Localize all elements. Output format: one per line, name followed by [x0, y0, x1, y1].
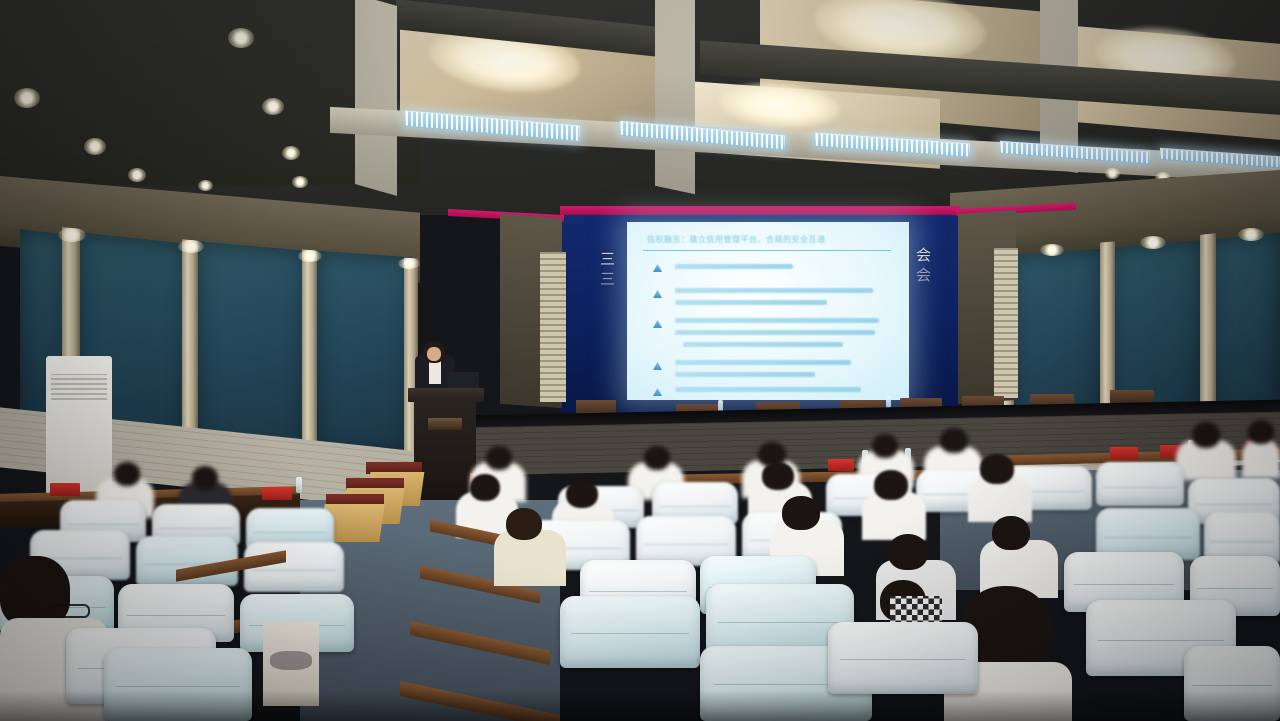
bottled-water-stage-2 [886, 396, 891, 408]
attendee-head-far-1 [114, 462, 140, 486]
ceiling-beam-1 [355, 0, 397, 196]
wall-washlight-right-3 [1238, 228, 1264, 241]
ceiling-downlight-2 [84, 138, 106, 155]
wall-washlight-right-2 [1140, 236, 1166, 249]
slide-bullet-line [675, 360, 851, 365]
attendee-head-far-3 [486, 446, 512, 470]
slide-bullet-line [675, 372, 815, 377]
slide-bullet-line [675, 300, 827, 305]
slide-bullet-line [675, 330, 875, 335]
slide-bullet-line [683, 342, 843, 347]
attendee-head-r3-2 [782, 496, 820, 530]
name-card-4 [828, 459, 854, 471]
slide-bullet-line [675, 387, 861, 392]
wall-pilaster-left-2 [182, 239, 198, 456]
slide-title-underline [643, 250, 891, 251]
ceiling-downlight-5 [262, 98, 284, 115]
ceiling-downlight-1 [14, 88, 40, 108]
wall-washlight-left-3 [298, 250, 322, 262]
ceiling-downlight-8 [198, 180, 213, 191]
attendee-head-r2-3 [762, 462, 794, 490]
attendee-head-r2-5 [980, 454, 1014, 484]
projection-screen: 信权融东：建立信用管理平台、合规的安全互通 [627, 222, 909, 400]
attendee-head-r3-3 [888, 534, 928, 570]
glasses-icon [52, 604, 90, 618]
seat-r4-3 [560, 596, 700, 668]
slide-bullet-line [675, 318, 879, 323]
wall-washlight-left-2 [178, 240, 204, 253]
name-card-2 [262, 487, 292, 500]
attendee-head-r3-1 [506, 508, 542, 540]
attendee-head-r2-1 [470, 474, 500, 501]
backdrop-character-left: 三 [600, 252, 616, 267]
backdrop-character-right: 会 [916, 248, 932, 263]
bottled-water-1 [296, 477, 302, 493]
seat-r1-9 [1096, 462, 1184, 506]
name-card-7 [1110, 447, 1138, 460]
attendee-head-far-4 [644, 446, 670, 470]
paper-bag-logo [270, 651, 313, 669]
ac-vent-grille [51, 374, 106, 400]
attendee-head-r3-4 [992, 516, 1030, 550]
attendee-head-far-2 [192, 466, 218, 490]
ceiling-downlight-3 [128, 168, 146, 182]
foreground-shadow [0, 690, 1280, 721]
wall-washlight-left-1 [58, 228, 86, 242]
wall-washlight-left-4 [398, 258, 420, 269]
attendee-head-far-6 [872, 434, 898, 458]
wall-panel-left-3 [196, 241, 308, 459]
attendee-shirt-far-9 [1242, 438, 1280, 478]
slide-title: 信权融东：建立信用管理平台、合规的安全互通 [647, 234, 826, 245]
backdrop-character-left-2: 三 [600, 272, 616, 287]
attendee-head-far-8 [1192, 422, 1220, 448]
attendee-head-far-7 [940, 428, 968, 453]
backdrop-character-right-2: 会 [916, 268, 932, 283]
stage-banner-strip [560, 206, 960, 215]
stage-louver-panel-right [994, 248, 1018, 398]
slide-bullet-line [675, 264, 793, 269]
ceiling-downlight-12 [1105, 168, 1120, 179]
attendee-head-far-9 [1248, 420, 1274, 444]
slide-bullet-line [675, 288, 873, 293]
attendee-head-r2-2 [566, 480, 598, 508]
ceiling-downlight-4 [228, 28, 254, 48]
speaker-face [427, 347, 441, 361]
stage-louver-panel [540, 252, 566, 402]
conference-hall-photo: 三 三 会 会 信权融东：建立信用管理平台、合规的安全互通 [0, 0, 1280, 721]
podium-front-inlay [428, 418, 462, 430]
wall-pilaster-left-3 [302, 249, 317, 458]
ceiling-downlight-6 [282, 146, 300, 160]
attendee-head-r2-4 [874, 470, 908, 500]
wall-washlight-right-1 [1040, 244, 1064, 256]
ceiling-downlight-7 [292, 176, 308, 188]
name-card-1 [50, 483, 80, 496]
ceiling-beam-2 [655, 0, 695, 194]
seat-r4-8 [828, 622, 978, 694]
wall-panel-left-4 [316, 251, 412, 458]
